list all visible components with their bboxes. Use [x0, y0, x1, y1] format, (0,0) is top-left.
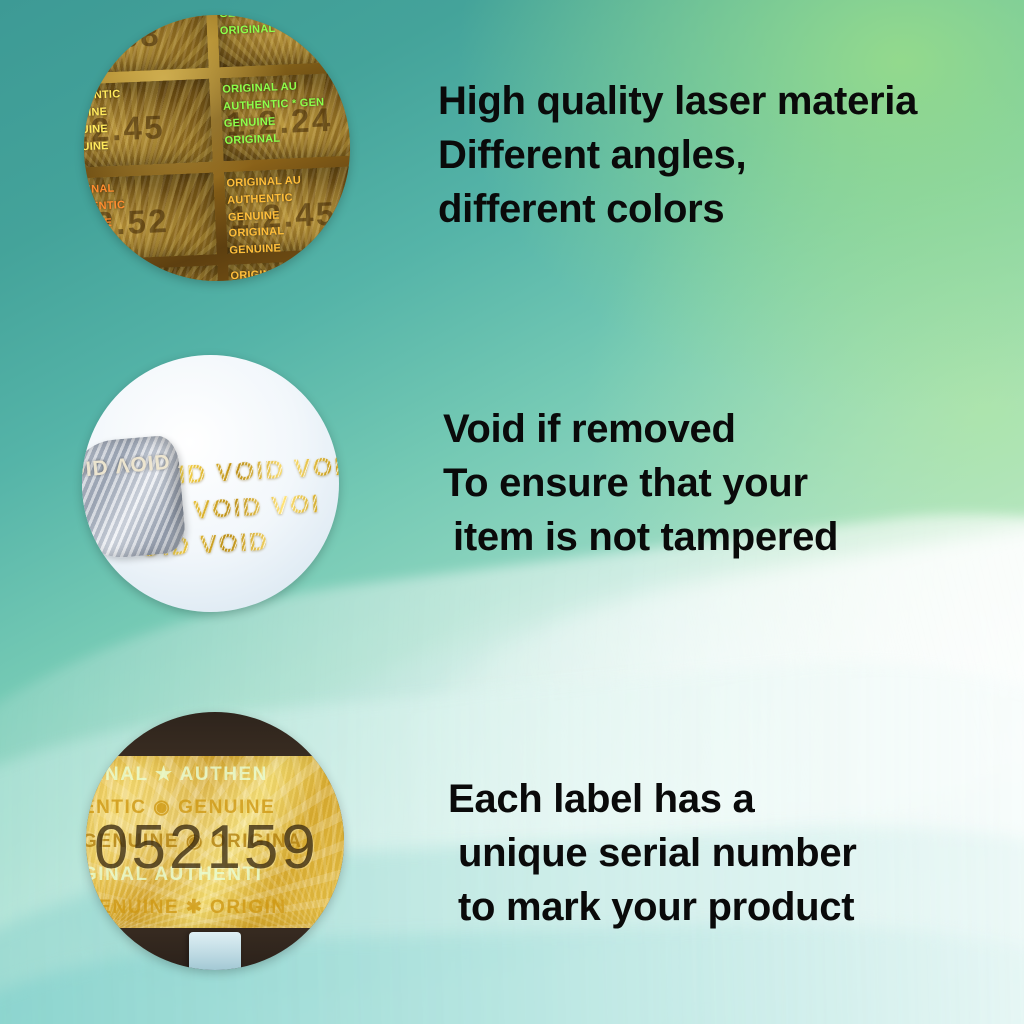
copy-unique-serial: Each label has a unique serial number to… [448, 772, 857, 934]
gold-hologram-label: GINAL ★ AUTHEN ENTIC ◉ GENUINE GENUINE ◉… [86, 756, 344, 928]
hologram-label-cell: 1.2.52 ORIGINAL AUTHENTIC GENUINE GENUIN… [84, 172, 216, 261]
hologram-cell-words: ORIGINAL * GEN GENUINE ORIGINAL [215, 15, 350, 68]
hologram-word: GENUINE [84, 269, 215, 281]
label-word: HENTIC ◉ GENUIN [86, 924, 344, 928]
copy-line: Void if removed [443, 402, 838, 456]
hologram-label-cell: ORIGINAL AUTHENTIC [228, 258, 350, 281]
photo-void-tape-peel: VOID VOID VOI OID VOID VOI VOID VOID VOI… [82, 355, 339, 612]
hologram-label-cell: 1.2.24 ORIGINAL AU AUTHENTIC * GEN GENUI… [219, 72, 350, 161]
hologram-cell-words: ORIGINAL * GENUINE GENUINE [84, 15, 208, 75]
hologram-label-cell: 1.2.45 ORIGINAL AU AUTHENTIC GENUINE ORI… [224, 165, 350, 254]
void-tape-curl: VOID VOID VOID VOID VOID VOID [82, 434, 187, 562]
hologram-cell-words: ORIGINAL AU AUTHENTIC * GEN GENUINE ORIG… [219, 72, 350, 161]
copy-line: to mark your product [448, 880, 857, 934]
hologram-label-cell: 1.2.38 ORIGINAL * GENUINE GENUINE [84, 15, 208, 75]
hologram-cell-words: ORIGINAL AU AUTHENTIC GENUINE ORIGINAL G… [224, 165, 350, 254]
hologram-cell-words: AUTHENTIC GENUINE GENUINE GENUINE [84, 79, 212, 168]
label-peel-tab [189, 932, 241, 970]
copy-line: different colors [438, 182, 917, 236]
label-word: GENUINE ✱ ORIGIN [86, 891, 344, 924]
hologram-cell-words: ORIGINAL AUTHENTIC GENUINE GENUINE GENUI… [84, 172, 216, 261]
hologram-word: ORIGINAL [230, 262, 350, 281]
hologram-label-cell: ORIGINAL * GEN GENUINE ORIGINAL [215, 15, 350, 68]
copy-line: Each label has a [448, 772, 857, 826]
label-word: GINAL ★ AUTHEN [86, 758, 344, 791]
photo-serial-hologram-label: GINAL ★ AUTHEN ENTIC ◉ GENUINE GENUINE ◉… [86, 712, 344, 970]
hologram-label-cell: GENUINE AUTHENTIC [84, 265, 219, 281]
copy-line: unique serial number [448, 826, 857, 880]
hologram-label-grid: 1.2.38 ORIGINAL * GENUINE GENUINE ORIGIN… [84, 15, 350, 281]
hologram-cell-words: ORIGINAL AUTHENTIC [228, 258, 350, 281]
hologram-label-cell: 1.2.45 AUTHENTIC GENUINE GENUINE GENUINE [84, 79, 212, 168]
copy-line: High quality laser materia [438, 74, 917, 128]
copy-void-removed: Void if removed To ensure that your item… [443, 402, 838, 564]
copy-line: Different angles, [438, 128, 917, 182]
label-serial-number: 052159 [94, 812, 319, 883]
copy-line: item is not tampered [443, 510, 838, 564]
hologram-word: GENUINE [84, 24, 204, 48]
copy-line: To ensure that your [443, 456, 838, 510]
void-curl-row: VOID VOID [82, 449, 171, 482]
photo-genuine-hologram-sheet: 1.2.38 ORIGINAL * GENUINE GENUINE ORIGIN… [84, 15, 350, 281]
copy-laser-material: High quality laser materia Different ang… [438, 74, 917, 236]
hologram-cell-words: GENUINE AUTHENTIC [84, 265, 219, 281]
product-feature-infographic: 1.2.38 ORIGINAL * GENUINE GENUINE ORIGIN… [0, 0, 1024, 1024]
